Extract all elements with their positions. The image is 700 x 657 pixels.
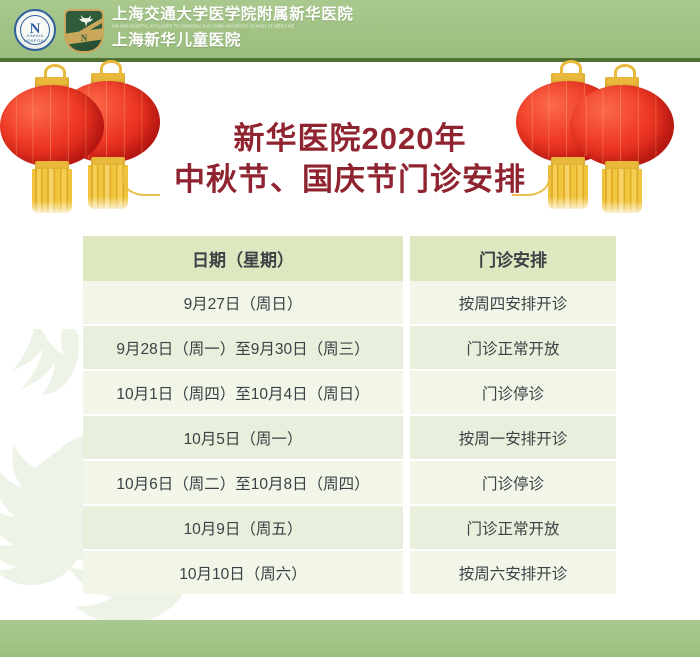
poster-title: 新华医院2020年 中秋节、国庆节门诊安排	[0, 118, 700, 200]
cell-date: 10月6日（周二）至10月8日（周四）	[83, 461, 410, 506]
hospital-round-emblem-icon: N XINHUA HOSPITAL	[14, 9, 56, 51]
emblem-sub-text: XINHUA HOSPITAL	[16, 33, 54, 43]
table-row: 10月10日（周六） 按周六安排开诊	[83, 551, 616, 594]
outpatient-schedule-table: 日期（星期） 门诊安排 9月27日（周日） 按周四安排开诊 9月28日（周一）至…	[83, 236, 616, 594]
cell-date: 10月1日（周四）至10月4日（周日）	[83, 371, 410, 416]
table-row: 10月9日（周五） 门诊正常开放	[83, 506, 616, 551]
table-row: 9月28日（周一）至9月30日（周三） 门诊正常开放	[83, 326, 616, 371]
cell-date: 10月5日（周一）	[83, 416, 410, 461]
cell-schedule: 按周六安排开诊	[410, 551, 616, 594]
hospital-name-english: XIN HUA HOSPITAL AFFILIATED TO SHANGHAI …	[112, 24, 372, 29]
shield-deer-icon	[79, 15, 93, 27]
hospital-name-secondary: 上海新华儿童医院	[112, 32, 241, 49]
cell-date: 9月27日（周日）	[83, 281, 410, 326]
cell-schedule: 门诊正常开放	[410, 506, 616, 551]
table-row: 10月5日（周一） 按周一安排开诊	[83, 416, 616, 461]
cell-schedule: 按周四安排开诊	[410, 281, 616, 326]
cell-schedule: 按周一安排开诊	[410, 416, 616, 461]
bottom-green-band	[0, 620, 700, 657]
table-row: 10月6日（周二）至10月8日（周四） 门诊停诊	[83, 461, 616, 506]
cell-schedule: 门诊正常开放	[410, 326, 616, 371]
shield-monogram: N	[66, 34, 102, 43]
column-header-schedule: 门诊安排	[410, 236, 616, 281]
table-row: 10月1日（周四）至10月4日（周日） 门诊停诊	[83, 371, 616, 416]
table-header-row: 日期（星期） 门诊安排	[83, 236, 616, 281]
cell-schedule: 门诊停诊	[410, 371, 616, 416]
cell-schedule: 门诊停诊	[410, 461, 616, 506]
title-line-2: 中秋节、国庆节门诊安排	[0, 159, 700, 200]
cell-date: 10月10日（周六）	[83, 551, 410, 594]
column-header-date: 日期（星期）	[83, 236, 410, 281]
hospital-shield-emblem-icon: N	[64, 9, 104, 53]
table-row: 9月27日（周日） 按周四安排开诊	[83, 281, 616, 326]
hospital-name: 上海交通大学医学院附属新华医院	[112, 6, 354, 23]
cell-date: 10月9日（周五）	[83, 506, 410, 551]
poster-canvas: N XINHUA HOSPITAL N 上海交通大学医学院附属新华医院 XIN …	[0, 0, 700, 657]
cell-date: 9月28日（周一）至9月30日（周三）	[83, 326, 410, 371]
title-line-1: 新华医院2020年	[0, 118, 700, 159]
